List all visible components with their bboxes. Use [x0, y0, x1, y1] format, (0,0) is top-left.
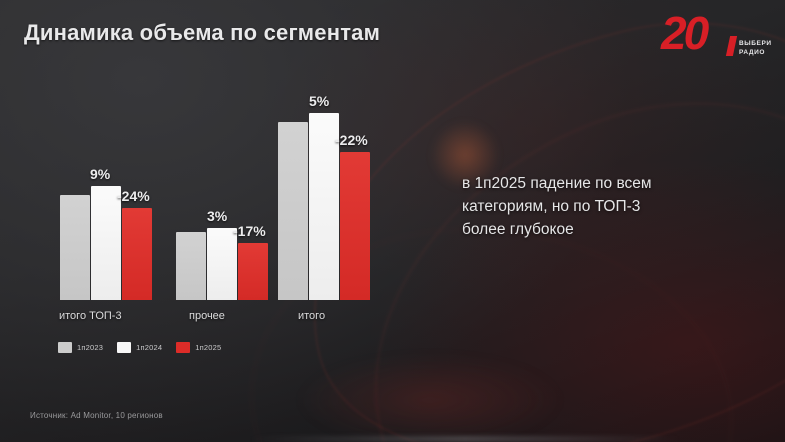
logo-tagline-line1: ВЫБЕРИ	[739, 40, 772, 49]
bar-itogo-1p2023[interactable]	[278, 122, 308, 300]
value-label-itogo-top3-1p2025: -24%	[117, 188, 150, 204]
axis-label-itogo-top3: итого ТОП-3	[59, 310, 122, 322]
logo-tagline-line2: РАДИО	[739, 49, 772, 58]
bar-itogo-top3-1p2025[interactable]	[122, 208, 152, 300]
logo-mark-20: 20	[661, 10, 706, 56]
source-note: Источник: Ad Monitor, 10 регионов	[30, 411, 163, 420]
bar-itogo-top3-1p2023[interactable]	[60, 195, 90, 300]
value-label-itogo-1p2025: -22%	[335, 132, 368, 148]
slide-canvas: Динамика объема по сегментам 20 ВЫБЕРИ Р…	[0, 0, 785, 442]
chart-legend: 1п2023 1п2024 1п2025	[58, 342, 221, 353]
callout-line-1: в 1п2025 падение по всем	[462, 172, 752, 195]
legend-item-1p2023[interactable]: 1п2023	[58, 342, 103, 353]
logo-tagline: ВЫБЕРИ РАДИО	[739, 40, 772, 57]
bar-prochee-1p2023[interactable]	[176, 232, 206, 300]
legend-label-1p2025: 1п2025	[195, 343, 221, 352]
legend-label-1p2023: 1п2023	[77, 343, 103, 352]
legend-label-1p2024: 1п2024	[136, 343, 162, 352]
value-label-prochee-1p2025: -17%	[233, 223, 266, 239]
legend-swatch-1p2024	[117, 342, 131, 353]
value-label-itogo-top3-1p2024: 9%	[90, 166, 110, 182]
brand-logo: 20 ВЫБЕРИ РАДИО	[651, 10, 771, 72]
bar-prochee-1p2025[interactable]	[238, 243, 268, 300]
background-glow-lower	[300, 355, 560, 442]
bar-itogo-1p2025[interactable]	[340, 152, 370, 300]
value-label-itogo-1p2024: 5%	[309, 93, 329, 109]
callout-text: в 1п2025 падение по всем категориям, но …	[462, 172, 752, 241]
axis-label-prochee: прочее	[189, 310, 225, 322]
axis-label-itogo: итого	[298, 310, 325, 322]
legend-item-1p2024[interactable]: 1п2024	[117, 342, 162, 353]
grouped-bar-chart: 9% -24% итого ТОП-3 3% -17% прочее 5% -2…	[0, 0, 430, 340]
bar-group-itogo-top3: 9% -24%	[60, 40, 152, 300]
callout-line-2: категориям, но по ТОП-3	[462, 195, 752, 218]
bottom-light-streak	[250, 436, 680, 442]
logo-tick-shape	[726, 36, 737, 56]
value-label-prochee-1p2024: 3%	[207, 208, 227, 224]
legend-swatch-1p2025	[176, 342, 190, 353]
bar-group-itogo: 5% -22%	[278, 40, 370, 300]
legend-item-1p2025[interactable]: 1п2025	[176, 342, 221, 353]
callout-line-3: более глубокое	[462, 218, 752, 241]
bar-group-prochee: 3% -17%	[176, 40, 268, 300]
legend-swatch-1p2023	[58, 342, 72, 353]
